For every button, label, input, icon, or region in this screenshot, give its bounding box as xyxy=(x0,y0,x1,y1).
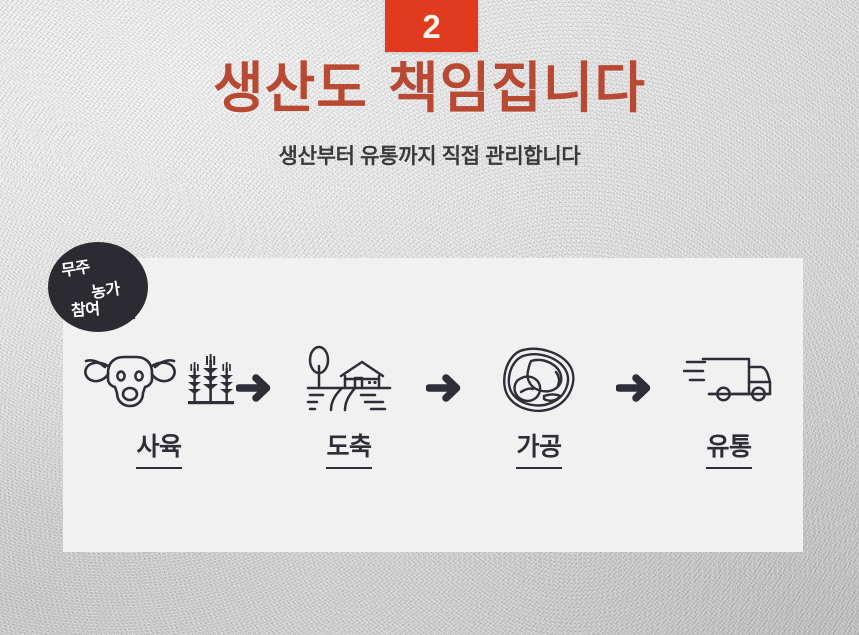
flow-step-breeding: 사육 xyxy=(93,341,225,469)
flow-step-distribution-icons xyxy=(683,341,775,419)
delivery-truck-icon xyxy=(683,349,775,411)
flow-arrow-2 xyxy=(415,371,473,405)
step-number-badge: 2 xyxy=(385,0,478,52)
page-subtitle: 생산부터 유통까지 직접 관리합니다 xyxy=(0,140,859,170)
flow-arrow-1 xyxy=(225,371,283,405)
flow-step-breeding-label: 사육 xyxy=(136,433,181,469)
flow-step-distribution-label: 유통 xyxy=(706,433,751,469)
cow-head-icon xyxy=(81,349,193,411)
flow-arrow-3 xyxy=(605,371,663,405)
step-number-label: 2 xyxy=(422,10,440,52)
flow-step-processing: 가공 xyxy=(473,341,605,469)
farmer-participation-bubble: 무주 농가 참여 xyxy=(48,242,153,347)
page-title: 생산도 책임집니다 xyxy=(0,60,859,115)
steak-cut-icon xyxy=(499,344,579,416)
flow-step-slaughter: 도축 xyxy=(283,341,415,469)
flow-step-processing-icons xyxy=(499,341,579,419)
flow-step-slaughter-icons xyxy=(305,341,393,419)
flow-step-slaughter-label: 도축 xyxy=(326,433,371,469)
arrow-right-icon xyxy=(426,371,462,405)
arrow-right-icon xyxy=(616,371,652,405)
arrow-right-icon xyxy=(236,371,272,405)
bubble-word-participation: 참여 xyxy=(70,295,100,321)
bubble-word-region: 무주 xyxy=(59,253,91,281)
process-flow-row: 사육 xyxy=(63,258,803,552)
farm-barn-icon xyxy=(305,344,393,416)
flow-step-distribution: 유통 xyxy=(663,341,795,469)
flow-step-processing-label: 가공 xyxy=(516,433,561,469)
flow-step-breeding-icons xyxy=(81,341,237,419)
